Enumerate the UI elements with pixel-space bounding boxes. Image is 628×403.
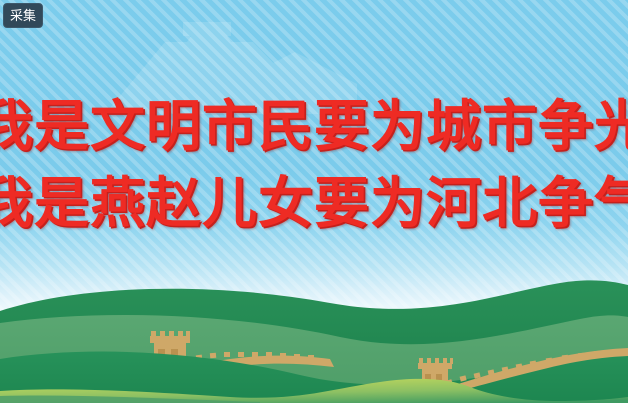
landscape-illustration xyxy=(0,263,628,403)
slogan-line-1: 我是文明市民 要为城市争光 xyxy=(0,96,628,156)
slogan-line1-left: 我是文明市民 xyxy=(0,96,314,156)
slogan-line1-right: 要为城市争光 xyxy=(314,96,628,156)
slogan-line2-left: 我是燕赵儿女 xyxy=(0,173,314,233)
slogan-line-2: 我是燕赵儿女 要为河北争气 xyxy=(0,173,628,233)
propaganda-banner: 我是文明市民 要为城市争光 我是燕赵儿女 要为河北争气 xyxy=(0,0,628,403)
slogan-block: 我是文明市民 要为城市争光 我是燕赵儿女 要为河北争气 xyxy=(0,96,628,233)
capture-button[interactable]: 采集 xyxy=(3,3,43,28)
slogan-line2-right: 要为河北争气 xyxy=(314,173,628,233)
